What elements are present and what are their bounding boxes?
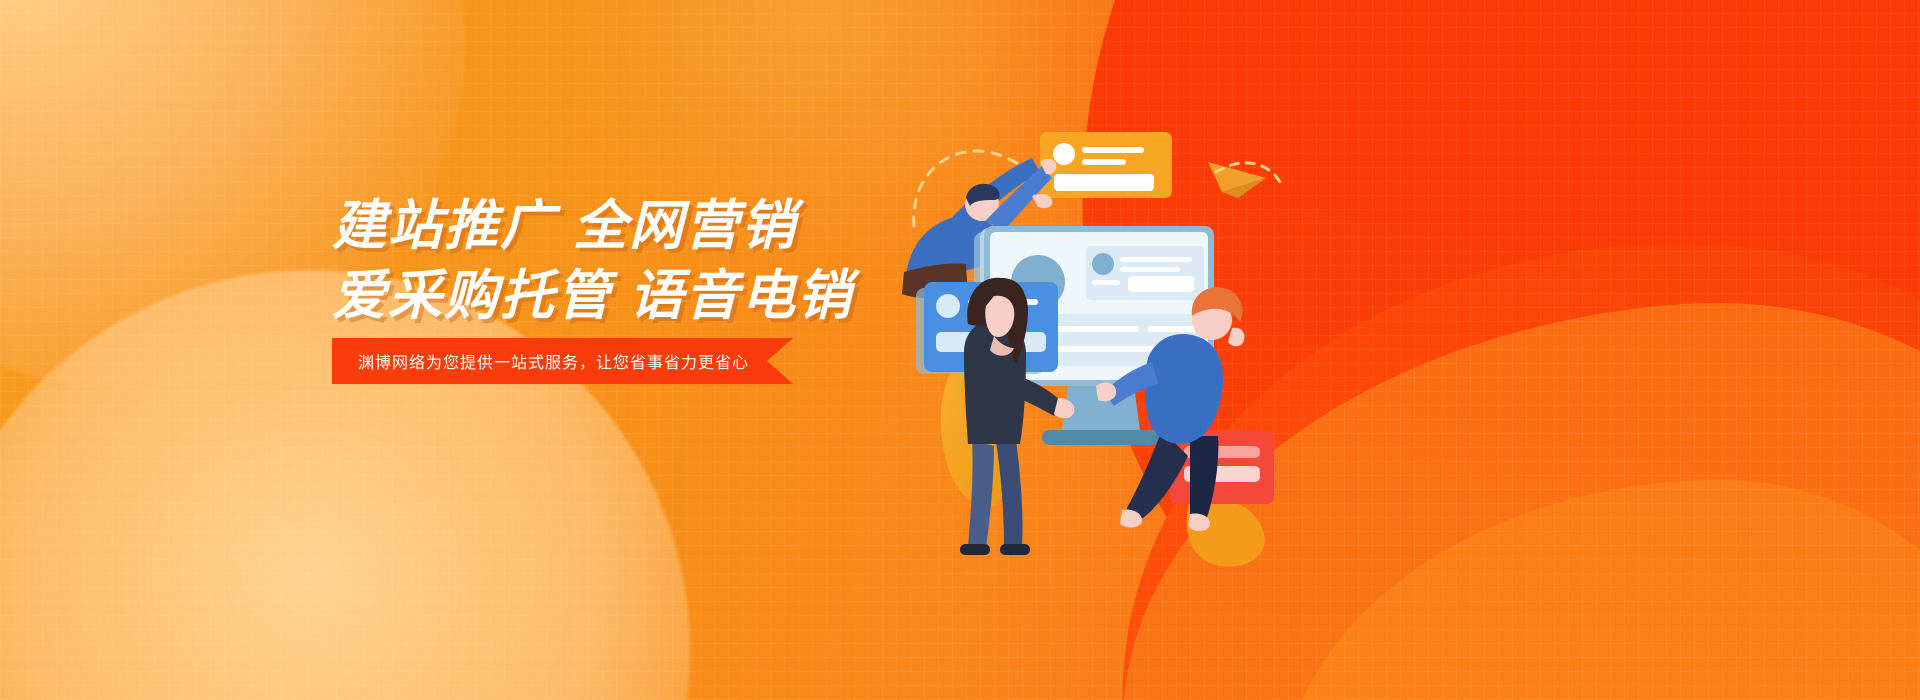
- tagline-ribbon: 渊博网络为您提供一站式服务，让您省事省力更省心: [332, 338, 793, 384]
- tagline-text: 渊博网络为您提供一站式服务，让您省事省力更省心: [358, 349, 749, 373]
- promo-banner: 建站推广 全网营销 爱采购托管 语音电销 渊博网络为您提供一站式服务，让您省事省…: [0, 0, 1920, 700]
- paper-plane-icon: [1208, 162, 1266, 198]
- yellow-profile-card: [1040, 132, 1172, 198]
- hero-illustration: [890, 100, 1320, 600]
